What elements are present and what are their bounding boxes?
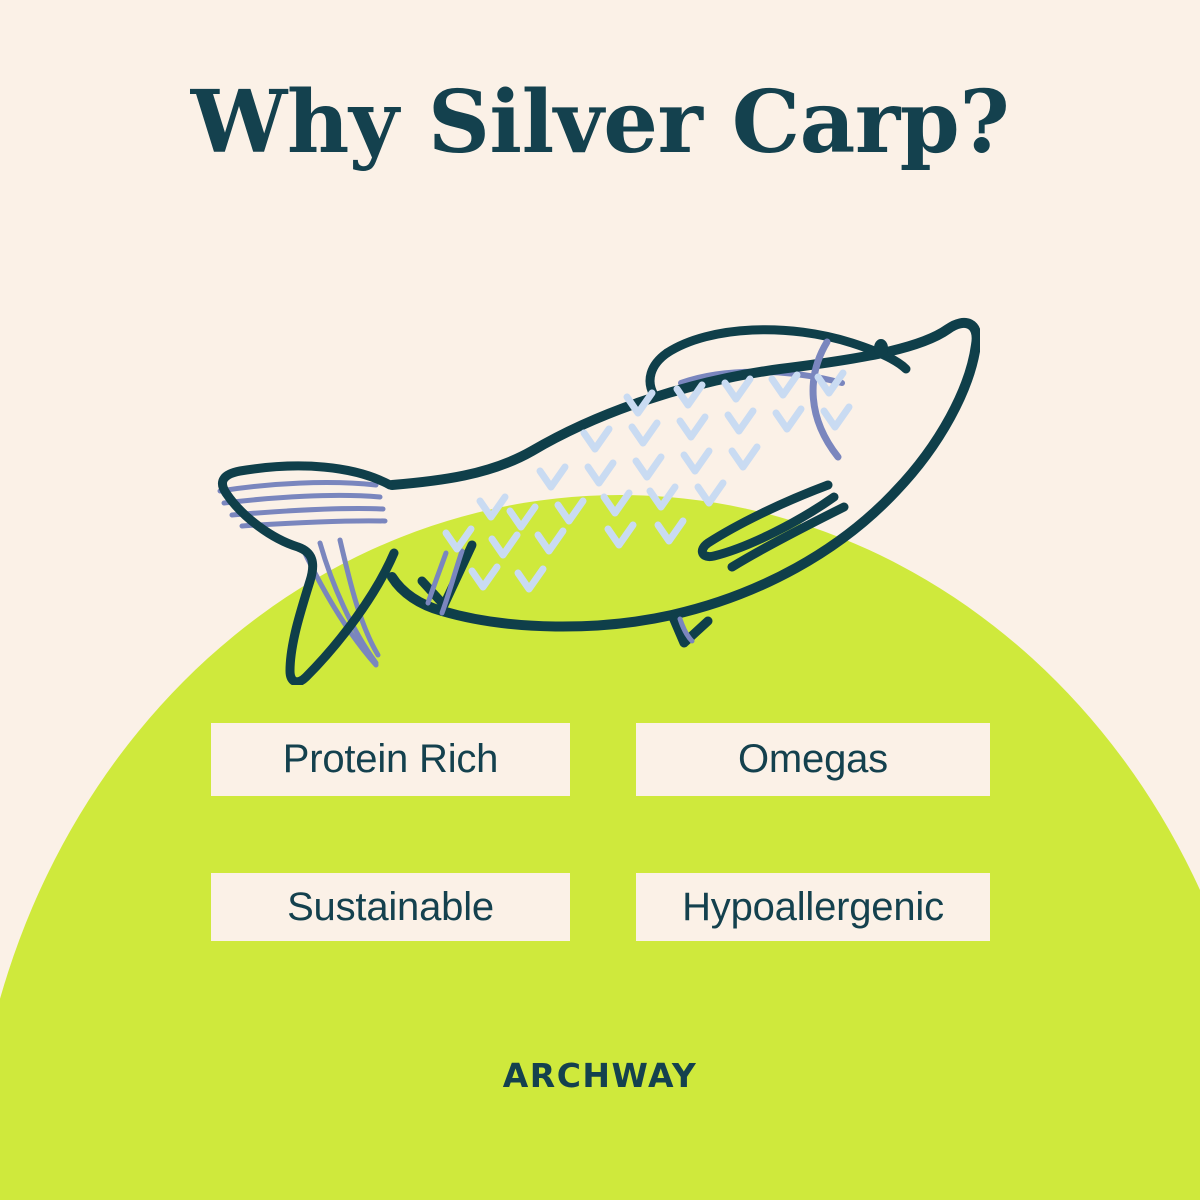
- feature-row: Protein Rich Omegas: [211, 723, 991, 796]
- brand-logo: ARCHWAY: [0, 1056, 1200, 1095]
- silver-carp-illustration: [180, 285, 980, 685]
- feature-box-protein-rich[interactable]: Protein Rich: [211, 723, 570, 796]
- page-title: Why Silver Carp?: [0, 78, 1200, 168]
- feature-grid: Protein Rich Omegas Sustainable Hypoalle…: [211, 723, 991, 941]
- feature-row: Sustainable Hypoallergenic: [211, 873, 991, 941]
- feature-box-hypoallergenic[interactable]: Hypoallergenic: [636, 873, 990, 941]
- poster-canvas: Why Silver Carp?: [0, 0, 1200, 1200]
- feature-box-omegas[interactable]: Omegas: [636, 723, 990, 796]
- feature-box-sustainable[interactable]: Sustainable: [211, 873, 570, 941]
